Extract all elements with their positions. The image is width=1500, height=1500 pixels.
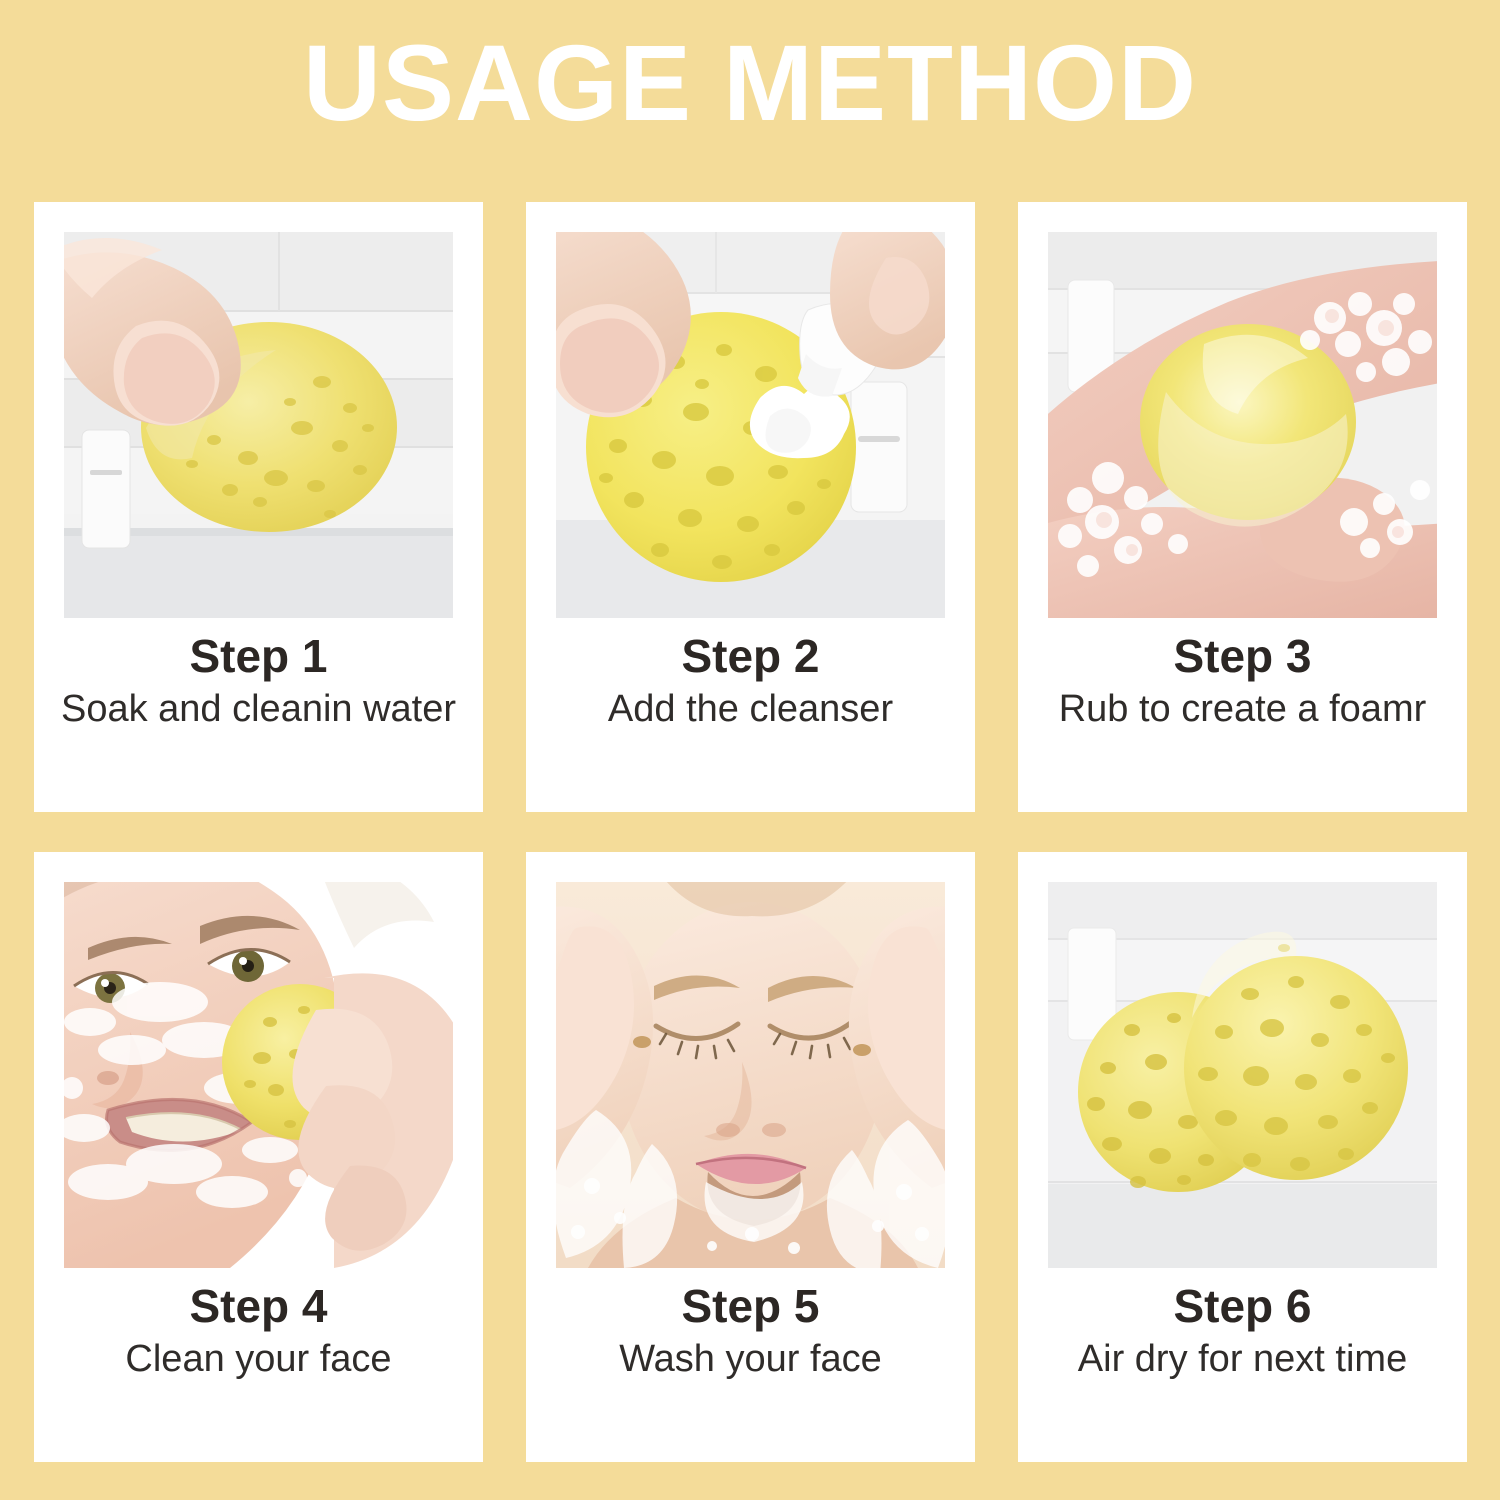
step-card-6: Step 6 Air dry for next time [1018, 852, 1467, 1462]
step-card-1: Step 1 Soak and cleanin water [34, 202, 483, 812]
step-caption-2: Step 2 Add the cleanser [526, 632, 975, 730]
step-card-4: Step 4 Clean your face [34, 852, 483, 1462]
step-caption-4: Step 4 Clean your face [34, 1282, 483, 1380]
photo-clean-face [64, 882, 453, 1268]
step-title: Step 1 [34, 632, 483, 682]
step-card-3: Step 3 Rub to create a foamr [1018, 202, 1467, 812]
step-description: Air dry for next time [1018, 1338, 1467, 1381]
step-description: Wash your face [526, 1338, 975, 1381]
page-title: USAGE METHOD [0, 26, 1500, 140]
usage-method-infographic: USAGE METHOD [0, 0, 1500, 1500]
step-description: Add the cleanser [526, 688, 975, 731]
photo-soak-sponge [64, 232, 453, 618]
step-title: Step 2 [526, 632, 975, 682]
step-title: Step 3 [1018, 632, 1467, 682]
step-description: Soak and cleanin water [34, 688, 483, 731]
step-card-5: Step 5 Wash your face [526, 852, 975, 1462]
step-caption-3: Step 3 Rub to create a foamr [1018, 632, 1467, 730]
photo-wash-face [556, 882, 945, 1268]
step-caption-1: Step 1 Soak and cleanin water [34, 632, 483, 730]
step-description: Clean your face [34, 1338, 483, 1381]
step-caption-5: Step 5 Wash your face [526, 1282, 975, 1380]
step-caption-6: Step 6 Air dry for next time [1018, 1282, 1467, 1380]
steps-grid: Step 1 Soak and cleanin water [34, 202, 1466, 1462]
step-title: Step 4 [34, 1282, 483, 1332]
step-card-2: Step 2 Add the cleanser [526, 202, 975, 812]
step-title: Step 6 [1018, 1282, 1467, 1332]
step-title: Step 5 [526, 1282, 975, 1332]
photo-air-dry [1048, 882, 1437, 1268]
photo-add-cleanser [556, 232, 945, 618]
step-description: Rub to create a foamr [1018, 688, 1467, 731]
photo-create-foam [1048, 232, 1437, 618]
